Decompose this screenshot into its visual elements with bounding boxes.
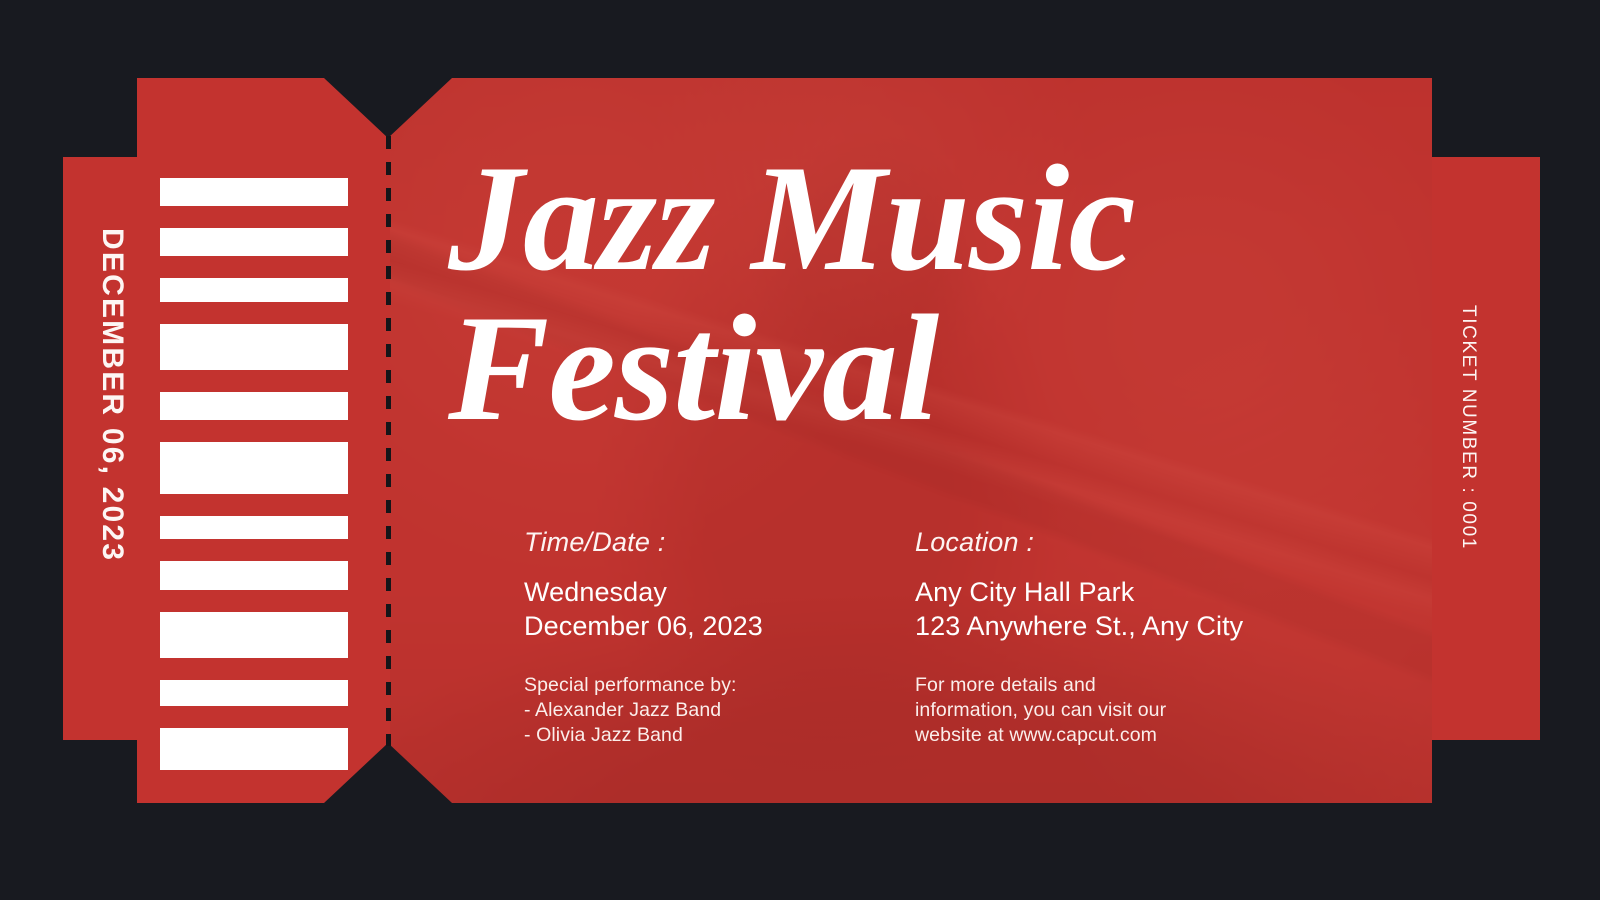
barcode-bar	[160, 178, 348, 206]
barcode	[160, 178, 348, 698]
barcode-bar	[160, 324, 348, 370]
performers-note-line-3: - Olivia Jazz Band	[524, 723, 904, 748]
barcode-bar	[160, 392, 348, 420]
location-line-1: Any City Hall Park	[915, 576, 1335, 609]
perforation-dashed-line	[386, 136, 391, 746]
perforation-notch-top-icon	[324, 78, 452, 138]
location-column: Location : Any City Hall Park 123 Anywhe…	[915, 526, 1335, 748]
ticket-number-label: TICKET NUMBER : 0001	[1451, 305, 1485, 645]
title-line-1: Jazz Music	[448, 143, 1348, 293]
barcode-bar	[160, 228, 348, 256]
more-info-note: For more details and information, you ca…	[915, 673, 1335, 748]
page-title: Jazz Music Festival	[448, 143, 1348, 444]
barcode-bar	[160, 516, 348, 539]
barcode-bar	[160, 680, 348, 706]
time-date-line-1: Wednesday	[524, 576, 904, 609]
location-label: Location :	[915, 526, 1335, 559]
location-line-2: 123 Anywhere St., Any City	[915, 610, 1335, 643]
title-line-2: Festival	[448, 293, 1348, 443]
more-info-note-line-3: website at www.capcut.com	[915, 723, 1335, 748]
stub-date-label: DECEMBER 06, 2023	[90, 228, 134, 668]
time-date-value: Wednesday December 06, 2023	[524, 576, 904, 643]
time-date-label: Time/Date :	[524, 526, 904, 559]
performers-note-line-2: - Alexander Jazz Band	[524, 698, 904, 723]
barcode-bar	[160, 728, 348, 770]
more-info-note-line-1: For more details and	[915, 673, 1335, 698]
ticket-canvas: DECEMBER 06, 2023 TICKET NUMBER : 0001 J…	[0, 0, 1600, 900]
time-date-column: Time/Date : Wednesday December 06, 2023 …	[524, 526, 904, 748]
barcode-bar	[160, 612, 348, 658]
barcode-bar	[160, 561, 348, 590]
barcode-bar	[160, 278, 348, 302]
time-date-line-2: December 06, 2023	[524, 610, 904, 643]
performers-note-line-1: Special performance by:	[524, 673, 904, 698]
location-value: Any City Hall Park 123 Anywhere St., Any…	[915, 576, 1335, 643]
performers-note: Special performance by: - Alexander Jazz…	[524, 673, 904, 748]
more-info-note-line-2: information, you can visit our	[915, 698, 1335, 723]
barcode-bar	[160, 442, 348, 494]
